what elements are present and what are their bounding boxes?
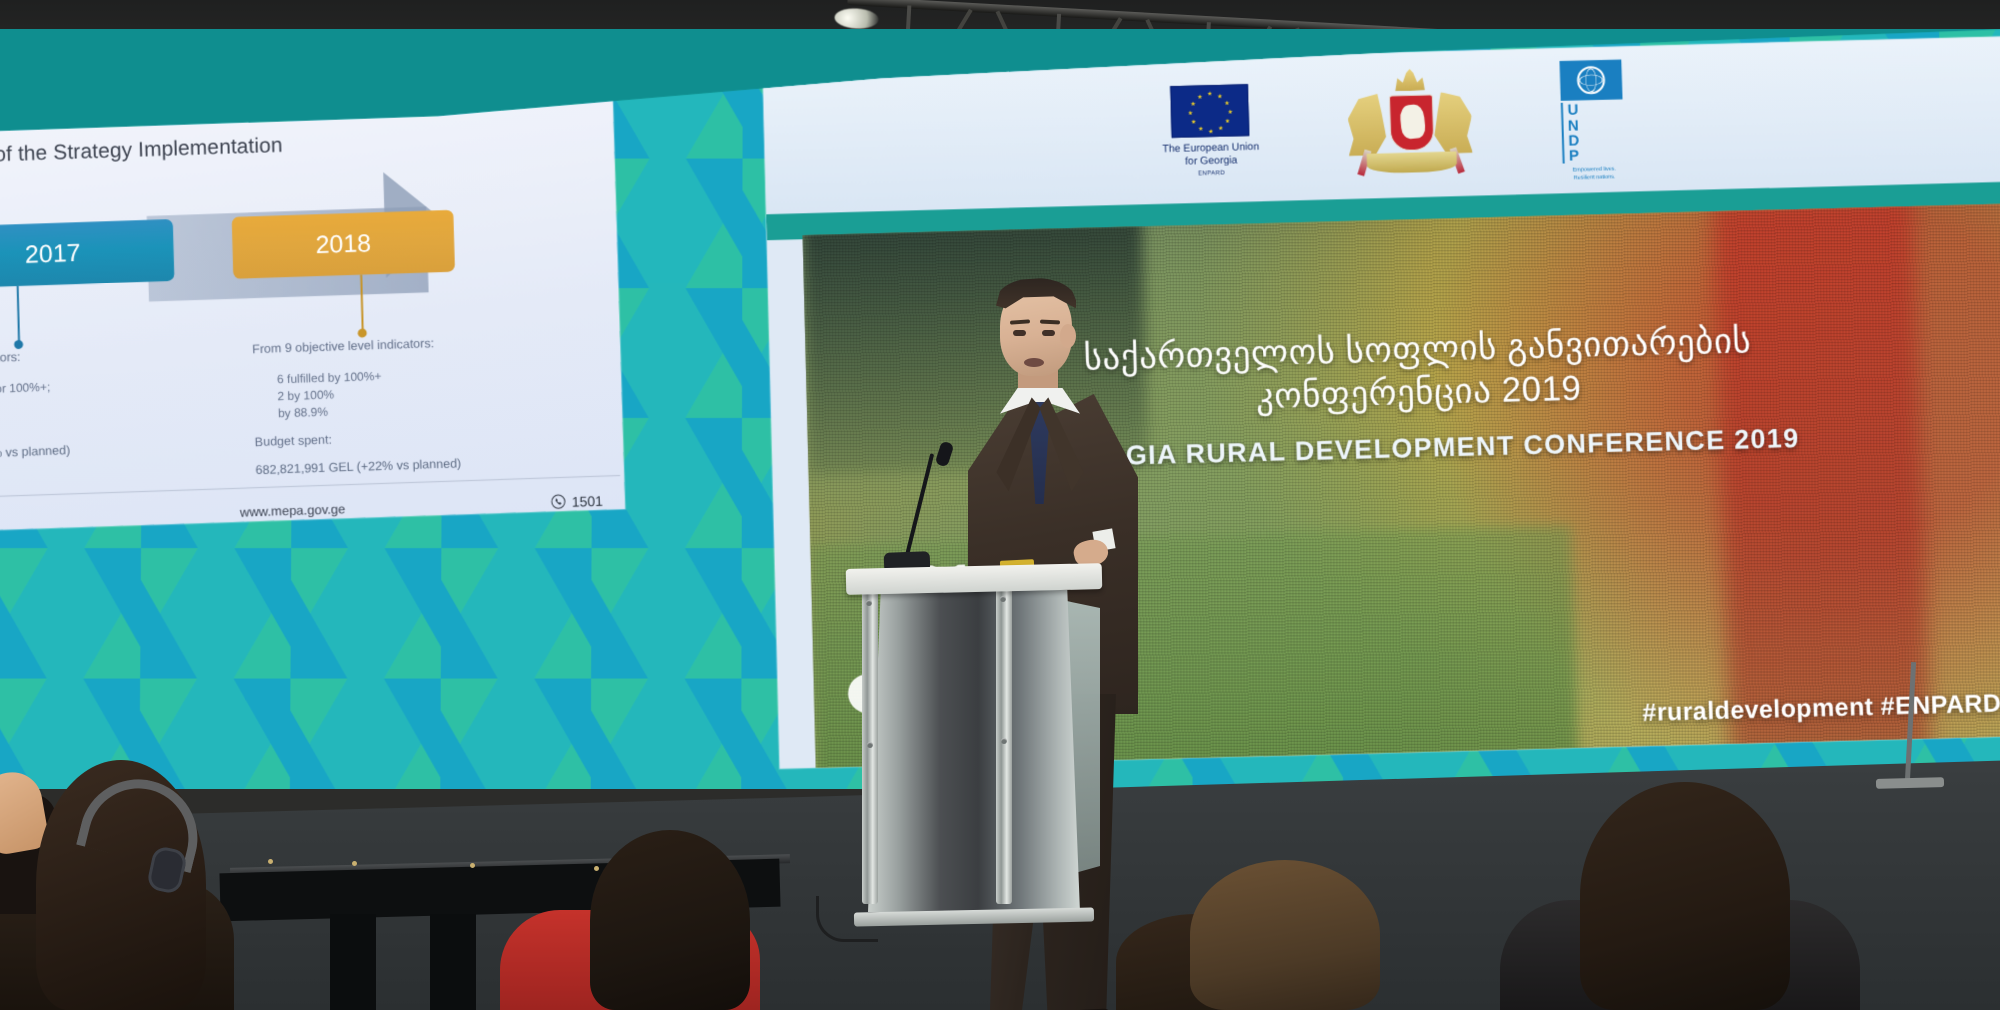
eu-flag-logo: The European Union for Georgia ENPARD bbox=[1161, 84, 1260, 178]
year-timeline: 2017 2018 bbox=[0, 174, 585, 343]
crown-icon bbox=[1395, 69, 1426, 92]
year-chip-2018-label: 2018 bbox=[315, 229, 371, 260]
column-2017-budget-value: EL (+38.3% vs planned) bbox=[0, 438, 235, 462]
year-chip-2017-label: 2017 bbox=[25, 239, 81, 270]
speaker-eye-right bbox=[1042, 330, 1055, 336]
undp-logo: UNDP Empowered lives. Resilient nations. bbox=[1560, 60, 1626, 182]
lion-right-icon bbox=[1433, 91, 1473, 154]
year-chip-2018: 2018 bbox=[232, 210, 455, 279]
audience-member-4-head bbox=[1580, 782, 1790, 1010]
conference-stage-photo: ults of the Strategy Implementation 2017… bbox=[0, 0, 2000, 1010]
eu-caption-line2: for Georgia bbox=[1163, 154, 1260, 170]
year-chip-2017: 2017 bbox=[0, 219, 174, 289]
shield-icon bbox=[1389, 94, 1435, 151]
undp-tagline: Empowered lives. Resilient nations. bbox=[1573, 167, 1617, 182]
slide-columns: level indicators: d by 100% or 100%+; d … bbox=[0, 331, 590, 486]
slide-title: ults of the Strategy Implementation bbox=[0, 124, 580, 169]
left-presentation-slide: ults of the Strategy Implementation 2017… bbox=[0, 95, 625, 531]
speaker-mouth bbox=[1024, 358, 1044, 367]
undp-globe-icon bbox=[1560, 60, 1623, 101]
audience-member-2-head bbox=[590, 830, 750, 1010]
lion-left-icon bbox=[1347, 94, 1387, 157]
eu-caption-line1: The European Union bbox=[1162, 140, 1259, 156]
audience-member-3-head bbox=[1190, 860, 1380, 1010]
column-2018-budget-label: Budget spent: bbox=[255, 425, 553, 449]
eu-flag-icon bbox=[1170, 84, 1249, 138]
column-2018-bullets: 6 fulfilled by 100%+ 2 by 100% by 88.9% bbox=[277, 362, 552, 422]
column-2017-header: level indicators: bbox=[0, 343, 232, 367]
audience-foreground bbox=[0, 710, 2000, 1010]
seat-bracket-2 bbox=[430, 914, 476, 1010]
undp-letters: UNDP bbox=[1561, 102, 1625, 165]
column-2018: From 9 objective level indicators: 6 ful… bbox=[252, 332, 554, 477]
slide-website: www.mepa.gov.ge bbox=[240, 501, 346, 520]
column-2017-bullets: d by 100% or 100%+; d partially; lled. bbox=[0, 373, 234, 434]
phone-icon bbox=[550, 494, 565, 510]
timeline-dot-2018 bbox=[358, 328, 367, 337]
speaker-eye-left bbox=[1013, 330, 1026, 336]
column-2018-header: From 9 objective level indicators: bbox=[252, 332, 550, 356]
undp-tagline-line2: Resilient nations. bbox=[1573, 174, 1617, 182]
motto-ribbon bbox=[1367, 151, 1457, 173]
georgia-coat-of-arms-logo bbox=[1343, 65, 1478, 186]
timeline-stem-2017 bbox=[17, 286, 20, 342]
seat-bracket-1 bbox=[330, 914, 376, 1010]
column-2018-budget-value: 682,821,991 GEL (+22% vs planned) bbox=[255, 453, 553, 477]
column-2017: level indicators: d by 100% or 100%+; d … bbox=[0, 343, 236, 488]
saint-george-rider-icon bbox=[1400, 104, 1427, 140]
speaker-ear bbox=[1060, 324, 1076, 348]
hotline-group: 1501 bbox=[550, 492, 603, 510]
timeline-dot-2017 bbox=[14, 340, 23, 349]
hotline-number: 1501 bbox=[571, 492, 603, 509]
enpard-label: ENPARD bbox=[1198, 171, 1225, 178]
eu-logo-caption: The European Union for Georgia bbox=[1162, 140, 1259, 169]
